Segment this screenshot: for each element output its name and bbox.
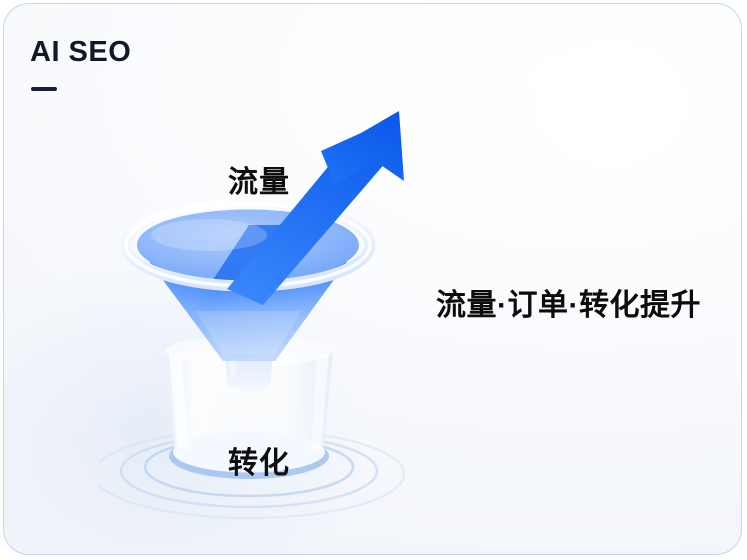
poster-card: AI SEO 流量·订单·转化提升 [3,3,742,555]
funnel-label-conversion: 转化 [228,438,290,482]
title-underline-rule [31,87,57,91]
page-title: AI SEO [30,38,131,67]
headline-text: 流量·订单·转化提升 [436,280,701,324]
funnel-label-traffic: 流量 [228,157,290,201]
